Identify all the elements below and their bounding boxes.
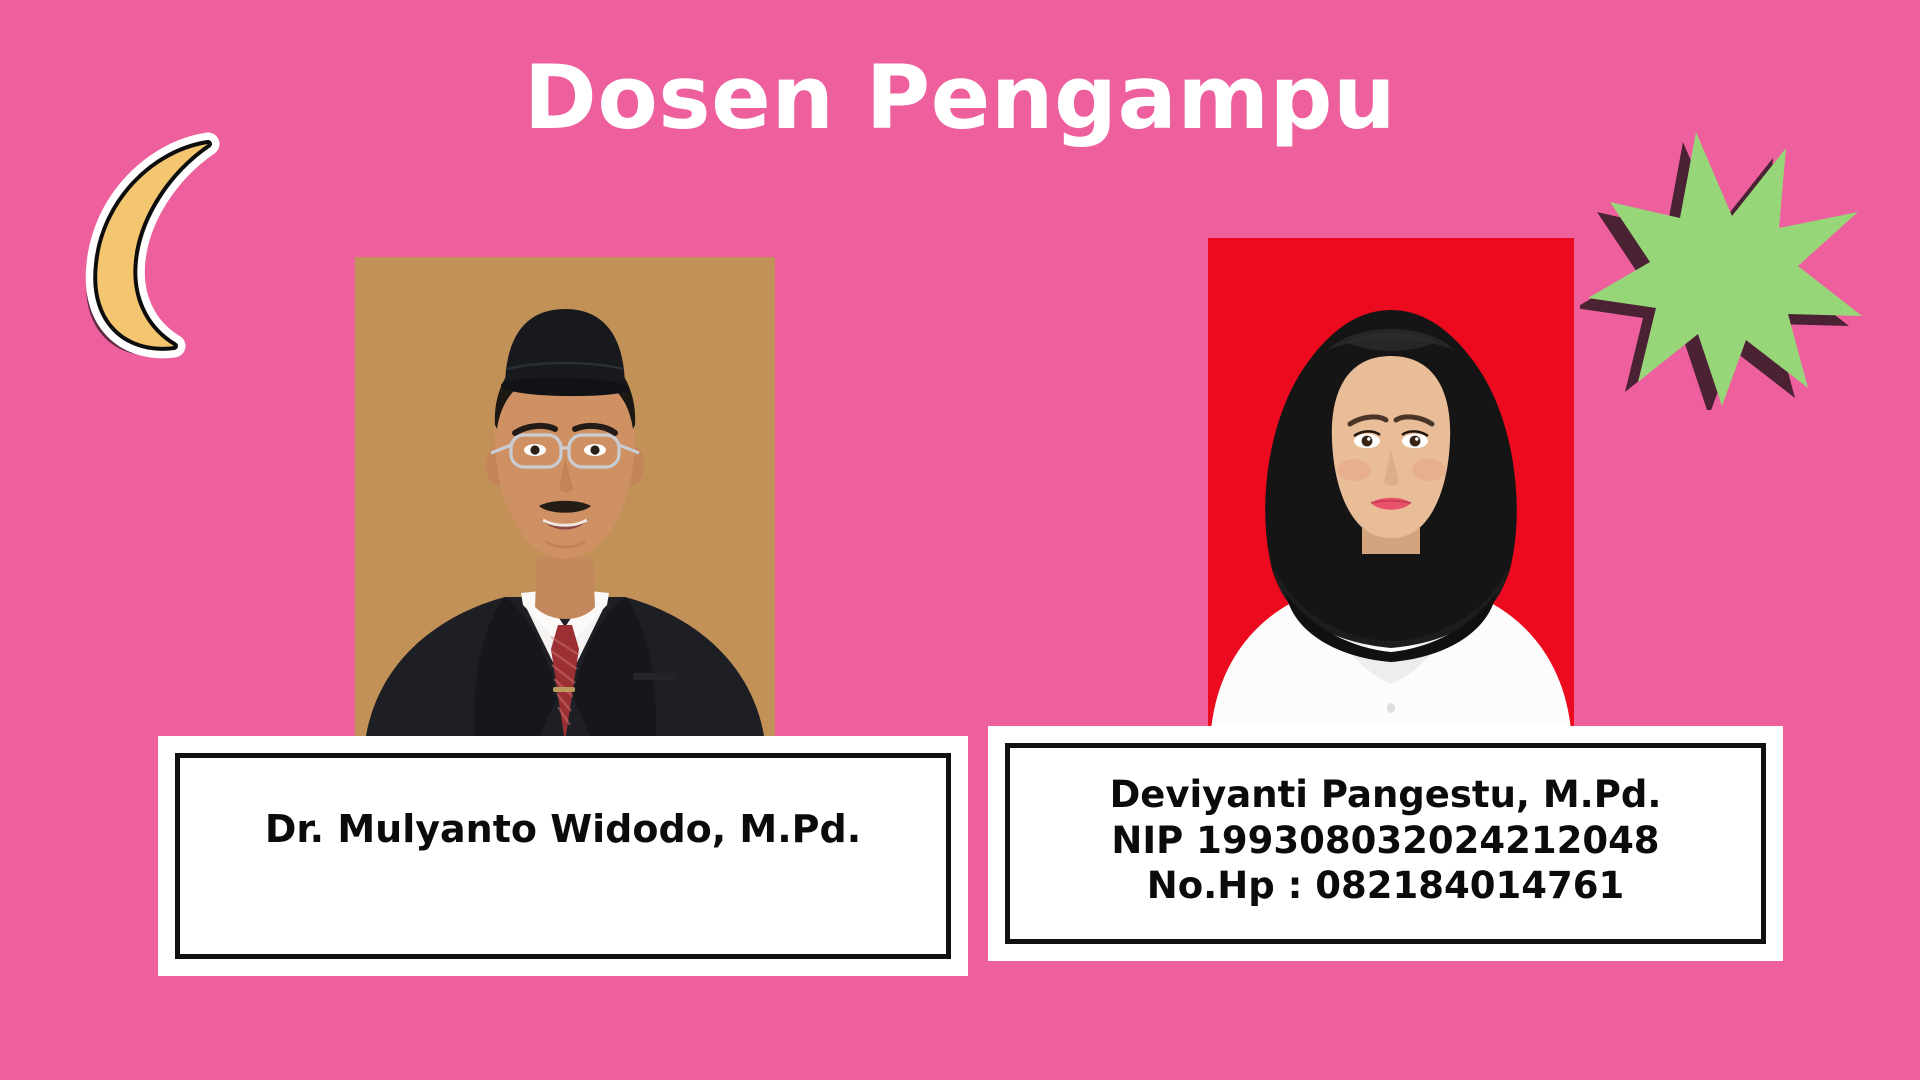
slide-canvas: Dosen Pengampu — [0, 0, 1920, 1080]
lecturer-card-left: Dr. Mulyanto Widodo, M.Pd. — [158, 736, 968, 976]
crescent-moon-icon — [58, 130, 268, 360]
portrait-photo-male-lecturer — [355, 257, 775, 742]
lecturer-name-left: Dr. Mulyanto Widodo, M.Pd. — [265, 806, 861, 853]
portrait-photo-female-lecturer — [1208, 238, 1574, 743]
lecturer-card-right: Deviyanti Pangestu, M.Pd. NIP 1993080320… — [988, 726, 1783, 961]
lecturer-card-left-inner: Dr. Mulyanto Widodo, M.Pd. — [175, 753, 951, 959]
lecturer-name-right: Deviyanti Pangestu, M.Pd. — [1110, 772, 1662, 818]
lecturer-nip-right: NIP 199308032024212048 — [1111, 818, 1659, 864]
lecturer-phone-right: No.Hp : 082184014761 — [1147, 863, 1624, 909]
lecturer-card-right-inner: Deviyanti Pangestu, M.Pd. NIP 1993080320… — [1005, 743, 1766, 944]
nine-point-star-burst-icon — [1580, 120, 1870, 410]
